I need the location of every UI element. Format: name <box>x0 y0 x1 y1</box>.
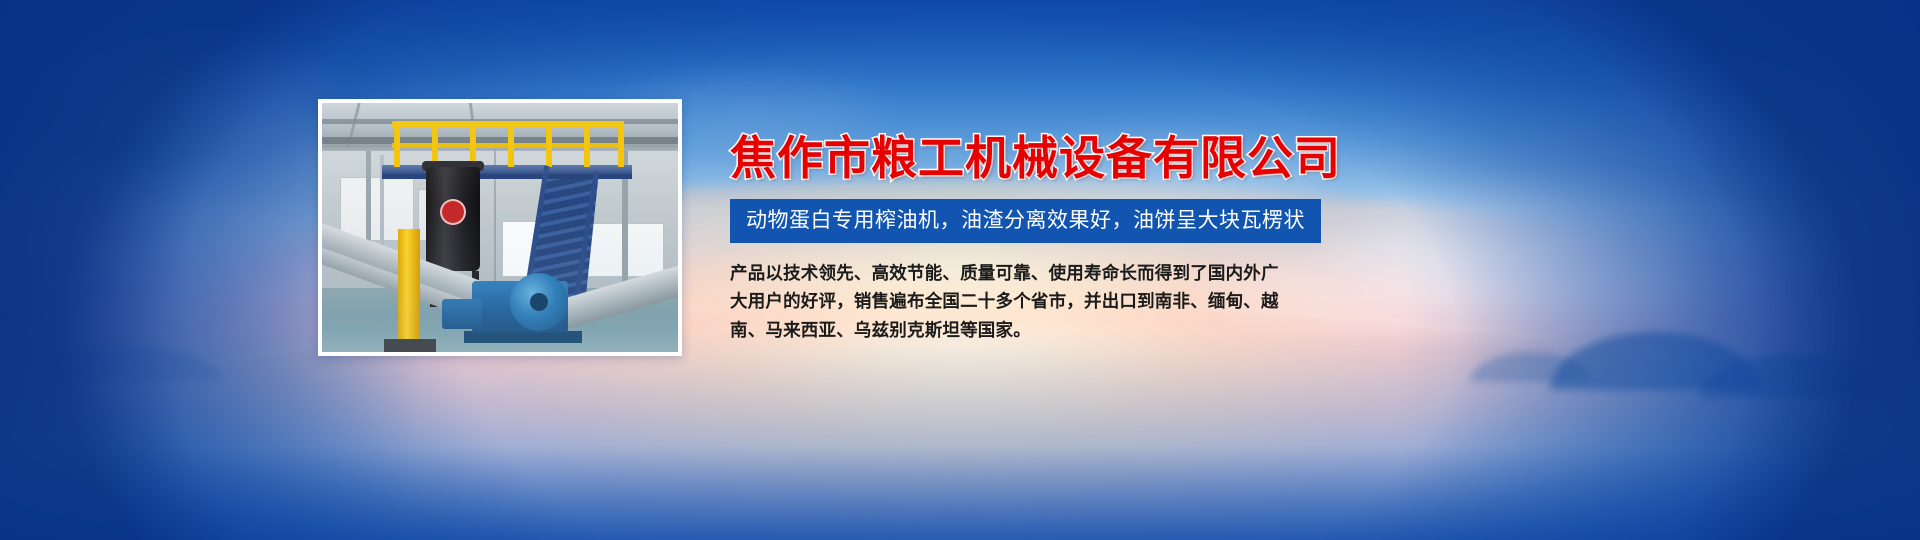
subtitle-highlight-bar: 动物蛋白专用榨油机，油渣分离效果好，油饼呈大块瓦楞状 <box>730 199 1321 243</box>
factory-workshop-image <box>322 103 678 352</box>
photo-lighting-overlay <box>322 103 678 352</box>
banner-text-block: 焦作市粮工机械设备有限公司 动物蛋白专用榨油机，油渣分离效果好，油饼呈大块瓦楞状… <box>730 132 1630 345</box>
product-photo <box>318 99 682 356</box>
company-description: 产品以技术领先、高效节能、质量可靠、使用寿命长而得到了国内外广大用户的好评，销售… <box>730 260 1290 345</box>
promo-banner: 焦作市粮工机械设备有限公司 动物蛋白专用榨油机，油渣分离效果好，油饼呈大块瓦楞状… <box>0 0 1920 540</box>
company-title: 焦作市粮工机械设备有限公司 <box>730 132 1630 185</box>
